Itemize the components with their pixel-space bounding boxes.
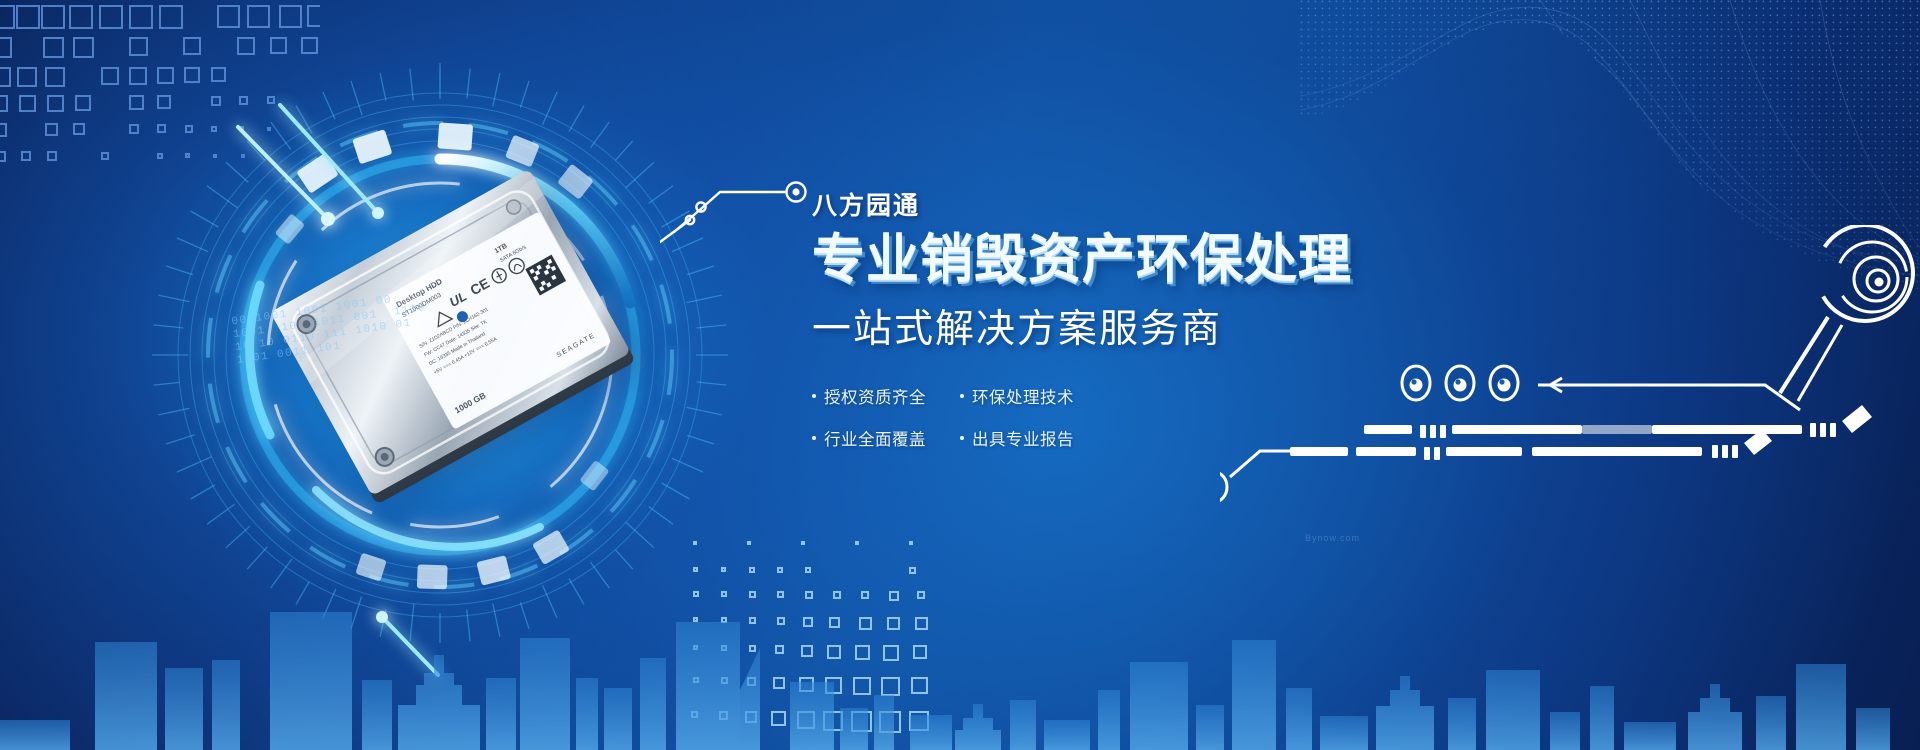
svg-text:SEAGATE: SEAGATE	[556, 332, 597, 359]
binary-code-texture: 00 1001 1001 1001 00 1001 10 1011 001 11…	[231, 284, 471, 405]
svg-text:UL: UL	[447, 288, 469, 310]
svg-text:FW: CC47 Date: 14335 Site:: FW: CC47 Date: 14335 Site: TK	[423, 319, 489, 359]
feature-label: 环保处理技术	[972, 384, 1074, 408]
feature-list: 授权资质齐全 环保处理技术 行业全面覆盖 出具专业报告	[812, 384, 1412, 450]
list-item: 出具专业报告	[960, 426, 1412, 450]
svg-text:1TB: 1TB	[494, 243, 509, 256]
svg-text:ST1000DM003: ST1000DM003	[401, 292, 443, 320]
feature-label: 授权资质齐全	[824, 384, 926, 408]
page-subtitle: 一站式解决方案服务商	[812, 298, 1412, 354]
brand-eyebrow: 八方园通	[812, 186, 1412, 222]
page-title: 专业销毁资产环保处理	[812, 231, 1412, 288]
pixel-square-grid-bottom-icon	[690, 540, 1030, 750]
bullet-dot-icon	[812, 436, 816, 440]
svg-text:1000 GB: 1000 GB	[453, 390, 488, 415]
banner-copy: 八方园通 专业销毁资产环保处理 一站式解决方案服务商 授权资质齐全 环保处理技术…	[812, 186, 1412, 450]
circuit-trace-icon	[660, 170, 820, 250]
bullet-dot-icon	[960, 394, 964, 398]
pixel-square-grid-icon	[0, 0, 320, 166]
list-item: 行业全面覆盖	[812, 426, 944, 450]
city-skyline-icon	[0, 530, 1920, 750]
svg-text:+5V === 0.45A +12V === 0.55A: +5V === 0.45A +12V === 0.55A	[433, 336, 499, 376]
hero-banner: Desktop HDD ST1000DM003 1TB SATA 6Gb/s S…	[0, 0, 1920, 750]
bullet-dot-icon	[812, 394, 816, 398]
svg-text:CE: CE	[467, 275, 492, 298]
feature-label: 出具专业报告	[972, 426, 1074, 450]
bullet-dot-icon	[960, 436, 964, 440]
tech-ring-icon: Desktop HDD ST1000DM003 1TB SATA 6Gb/s S…	[120, 35, 780, 695]
svg-text:SATA 6Gb/s: SATA 6Gb/s	[499, 244, 528, 264]
svg-text:S/N: Z1D2ABCD P/N: 1CH162-30: S/N: Z1D2ABCD P/N: 1CH162-301	[418, 307, 489, 350]
list-item: 环保处理技术	[960, 384, 1412, 408]
watermark: Bynow.com	[1305, 533, 1360, 543]
feature-label: 行业全面覆盖	[824, 426, 926, 450]
list-item: 授权资质齐全	[812, 384, 944, 408]
svg-text:DC: 16335 Made in Thailand: DC: 16335 Made in Thailand	[428, 331, 487, 367]
svg-text:Desktop HDD: Desktop HDD	[395, 277, 444, 310]
